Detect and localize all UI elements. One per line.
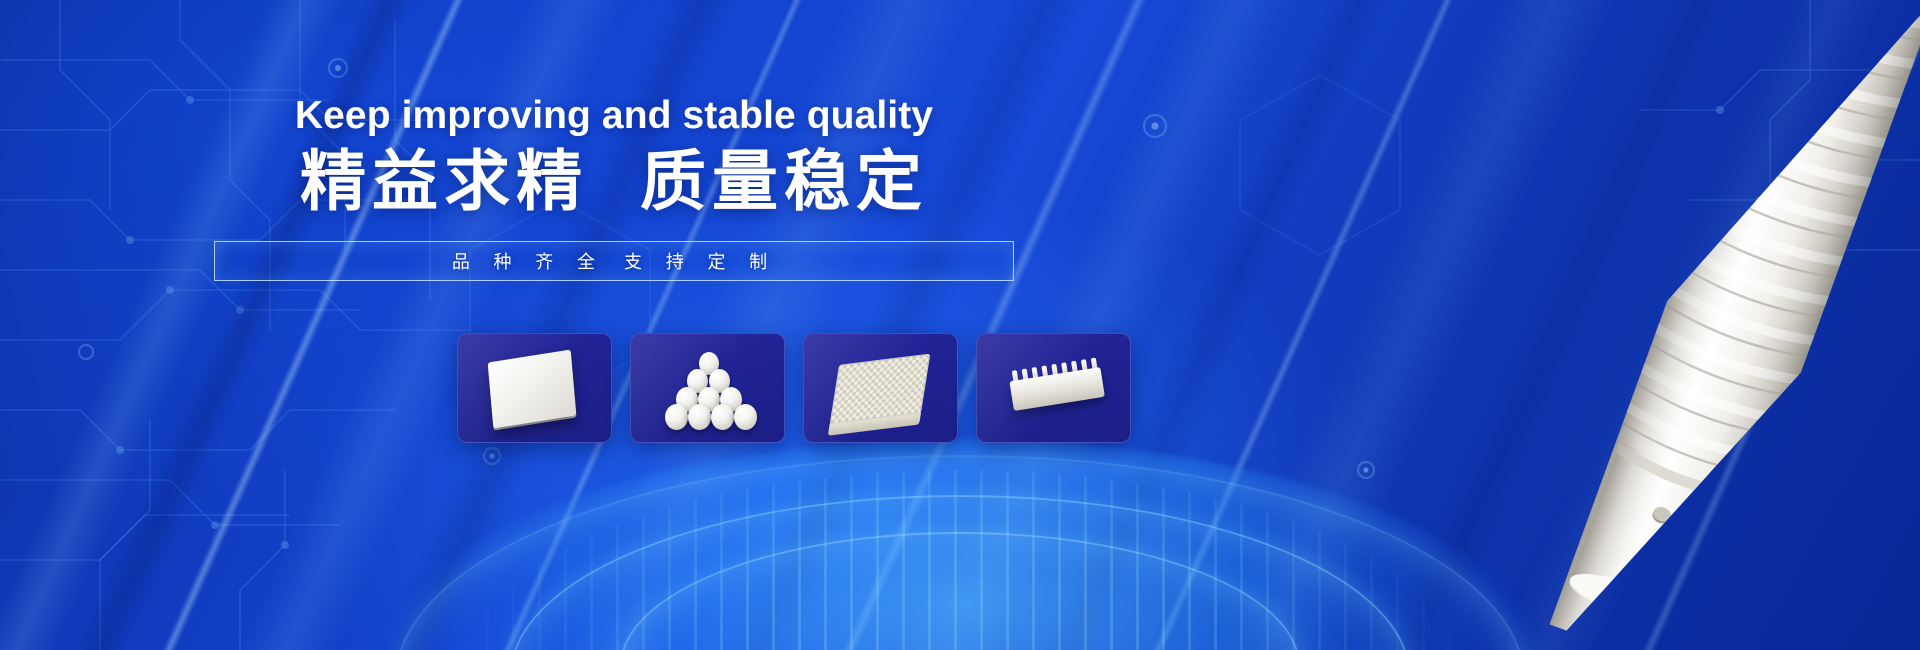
headline-chinese-part1: 精益求精 [300, 143, 588, 220]
headline-english: Keep improving and stable quality [0, 96, 1228, 137]
product-card-ceramic-balls[interactable] [630, 333, 785, 443]
ceramic-comb-rack-icon [995, 346, 1113, 430]
honeycomb-ceramic-icon [822, 346, 940, 430]
subtitle-part2: 支 持 定 制 [624, 248, 776, 274]
subtitle-part1: 品 种 齐 全 [452, 248, 604, 274]
product-card-list [457, 333, 1131, 443]
product-card-ceramic-comb-rack[interactable] [976, 333, 1131, 443]
product-card-ceramic-plate[interactable] [457, 333, 612, 443]
banner-content: Keep improving and stable quality 精益求精质量… [0, 0, 1228, 281]
product-card-honeycomb-ceramic[interactable] [803, 333, 958, 443]
ceramic-balls-icon [649, 346, 767, 430]
promo-banner: Keep improving and stable quality 精益求精质量… [0, 0, 1920, 650]
headline-chinese: 精益求精质量稳定 [0, 143, 1228, 221]
subtitle-box: 品 种 齐 全支 持 定 制 [214, 241, 1014, 281]
ceramic-plate-icon [476, 346, 594, 430]
headline-chinese-part2: 质量稳定 [640, 143, 928, 220]
